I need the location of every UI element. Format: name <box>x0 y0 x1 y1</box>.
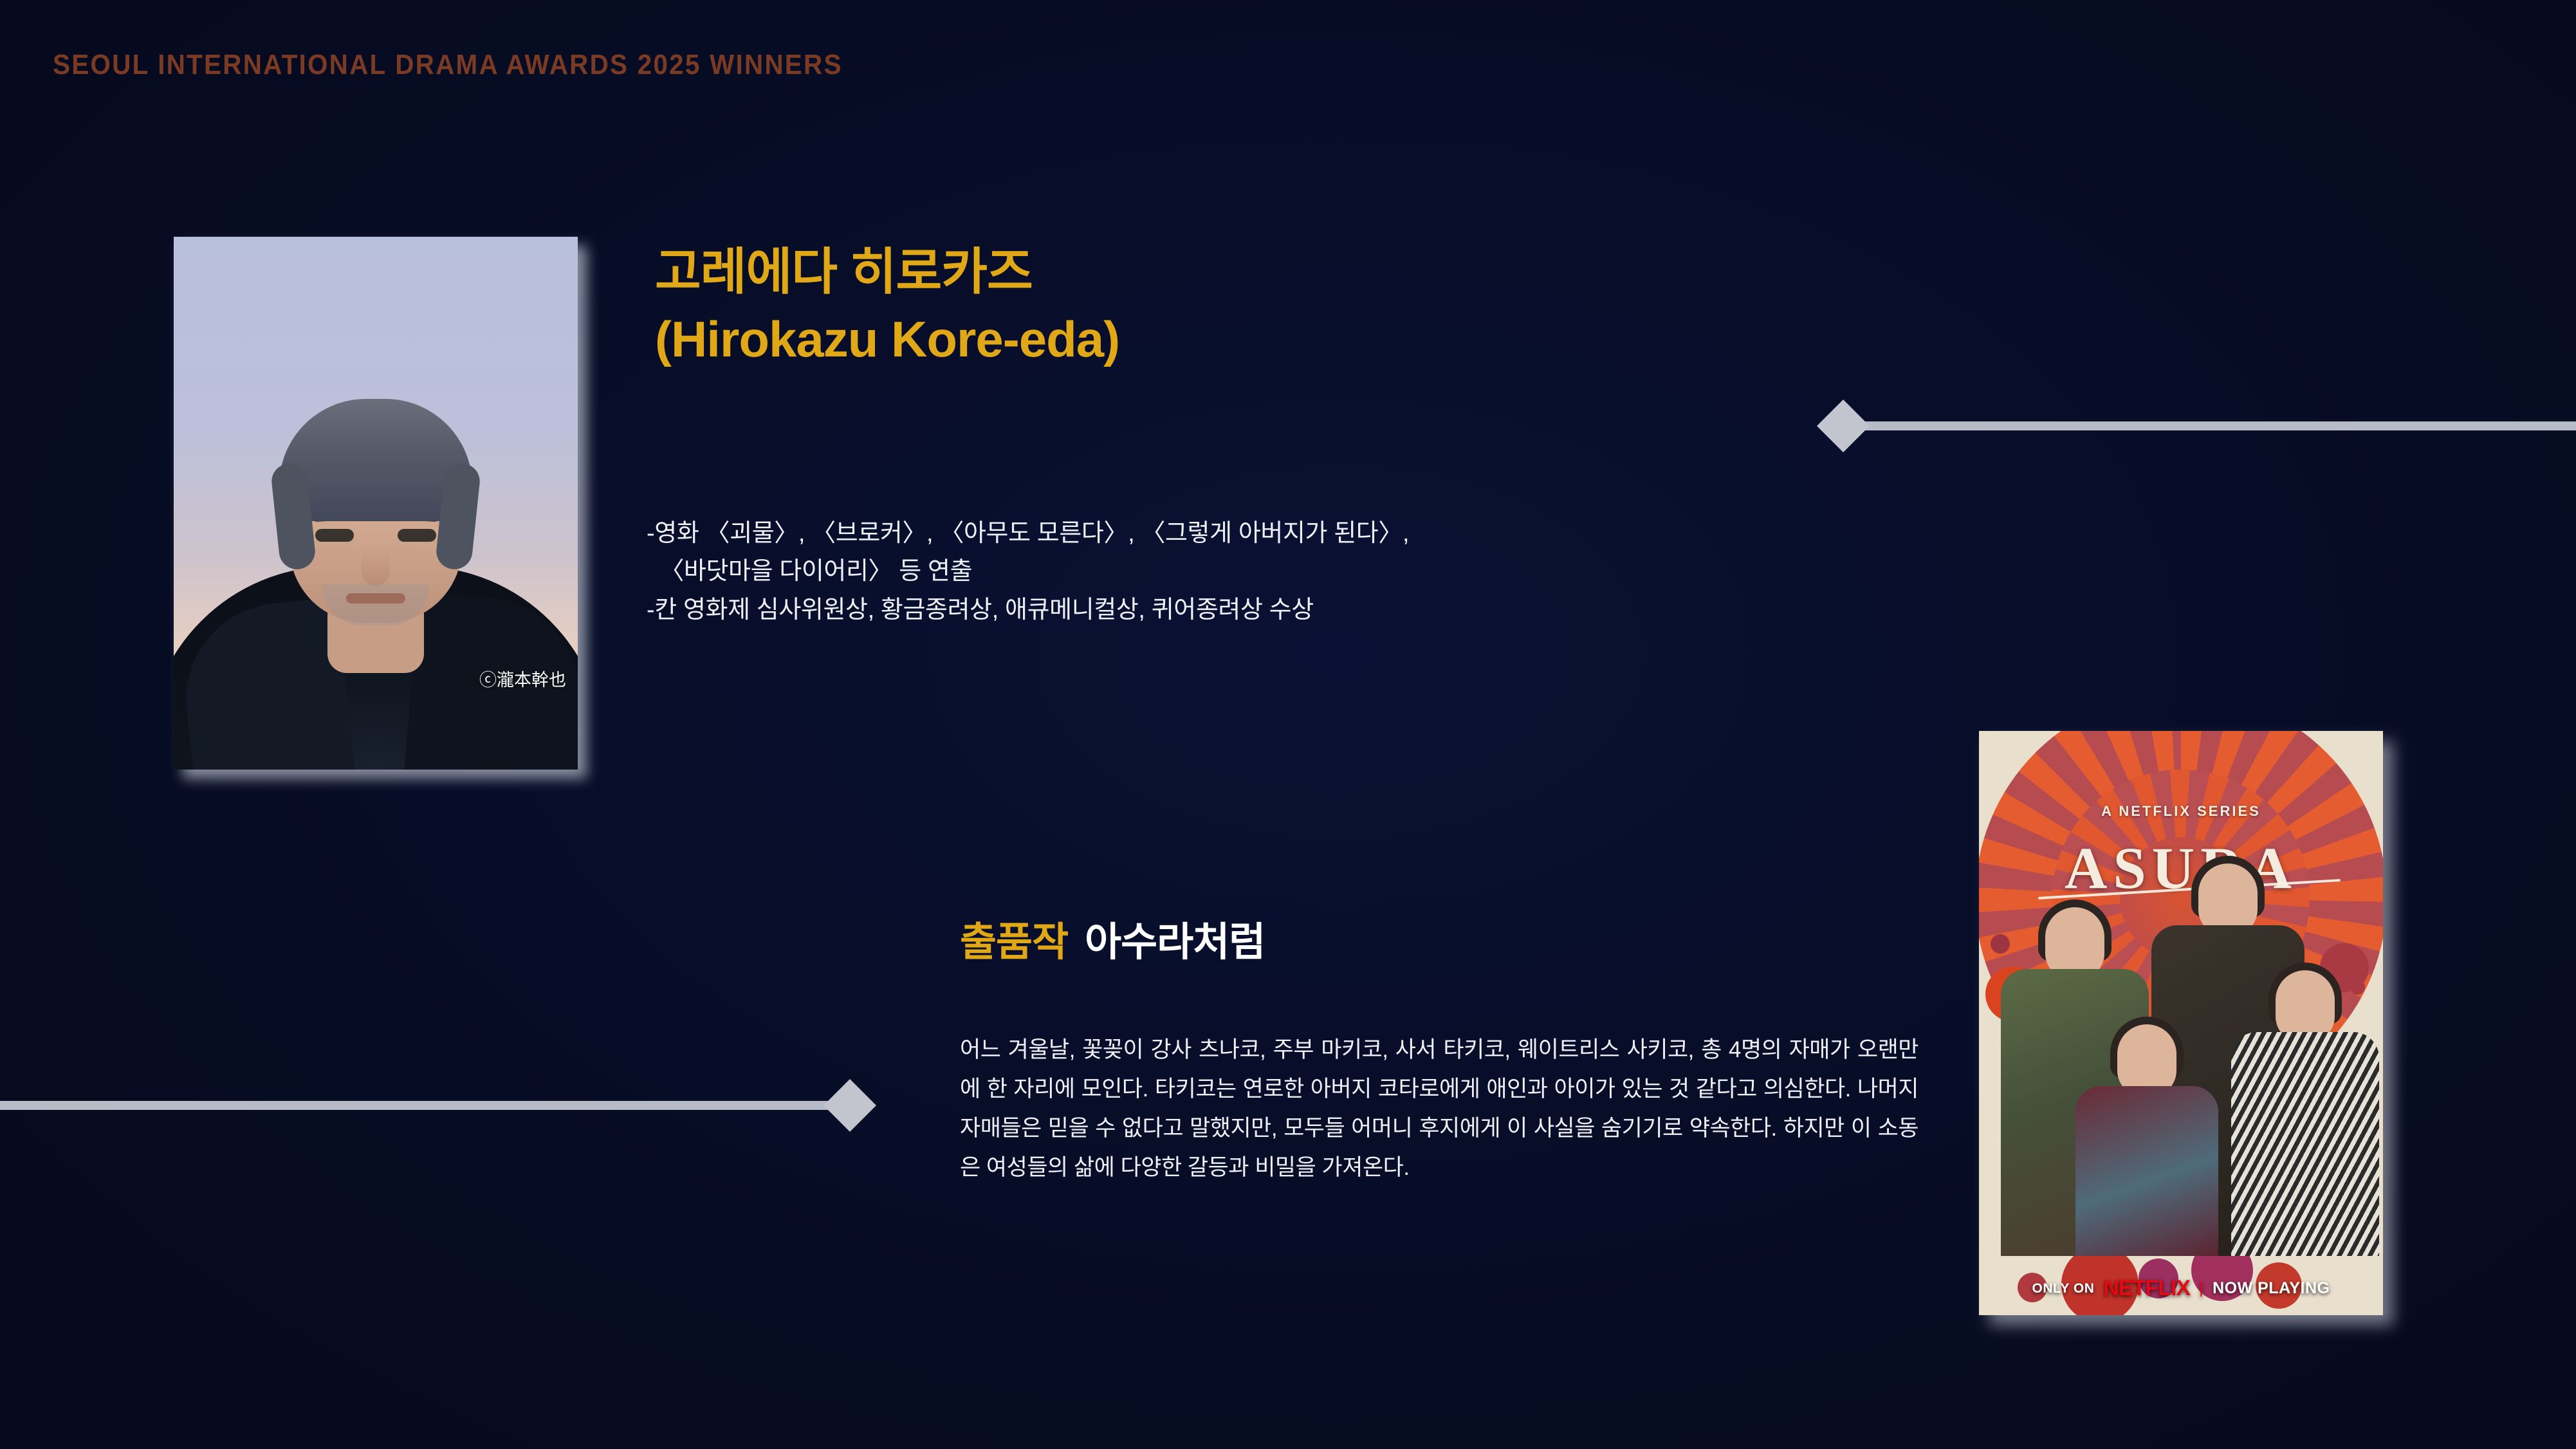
work-heading: 출품작아수라처럼 <box>960 923 1265 963</box>
netflix-logo: NETFLIX <box>2103 1276 2190 1301</box>
decorative-rule-left <box>0 1101 851 1110</box>
portrait-eye-right <box>398 529 436 542</box>
photo-frame: ⓒ瀧本幹也 <box>174 237 578 770</box>
poster-frame: A NETFLIX SERIES ASURA <box>1979 731 2383 1315</box>
poster-now-playing-label: NOW PLAYING <box>2213 1279 2330 1298</box>
work-title: 아수라처럼 <box>1085 920 1265 964</box>
slide-root: SEOUL INTERNATIONAL DRAMA AWARDS 2025 WI… <box>0 0 2576 1449</box>
director-bio: -영화 〈괴물〉, 〈브로커〉, 〈아무도 모른다〉, 〈그렇게 아버지가 된다… <box>647 515 1409 629</box>
page-title: SEOUL INTERNATIONAL DRAMA AWARDS 2025 WI… <box>53 49 843 81</box>
poster-footer-separator: | <box>2199 1279 2203 1298</box>
portrait-nose <box>362 542 390 586</box>
work-poster: A NETFLIX SERIES ASURA <box>1979 731 2383 1315</box>
portrait-eye-left <box>315 529 354 542</box>
portrait-mouth <box>346 593 405 604</box>
decorative-diamond-left <box>823 1079 876 1132</box>
cast-member-4 <box>2231 970 2379 1256</box>
cast-3-kimono <box>2075 1086 2218 1256</box>
poster-footer: ONLY ON NETFLIX | NOW PLAYING <box>1979 1276 2383 1301</box>
work-label: 출품작 <box>960 920 1068 964</box>
poster-cast-photo <box>1979 863 2383 1256</box>
director-photo: ⓒ瀧本幹也 <box>174 237 578 770</box>
director-name: 고레에다 히로카즈 (Hirokazu Kore-eda) <box>655 238 1119 373</box>
decorative-rule-right <box>1858 421 2576 430</box>
portrait-hair-right <box>435 462 482 571</box>
cast-4-kimono <box>2231 1032 2379 1256</box>
decorative-diamond-right <box>1817 400 1870 452</box>
photo-credit-watermark: ⓒ瀧本幹也 <box>479 666 566 691</box>
portrait-hair <box>279 399 472 521</box>
poster-network-tag: A NETFLIX SERIES <box>1979 803 2383 820</box>
portrait-hair-left <box>270 462 317 571</box>
poster-only-on-label: ONLY ON <box>2032 1281 2095 1297</box>
work-synopsis: 어느 겨울날, 꽃꽂이 강사 츠나코, 주부 마키코, 사서 타키코, 웨이트리… <box>960 1031 1918 1188</box>
cast-member-3 <box>2075 1024 2218 1256</box>
